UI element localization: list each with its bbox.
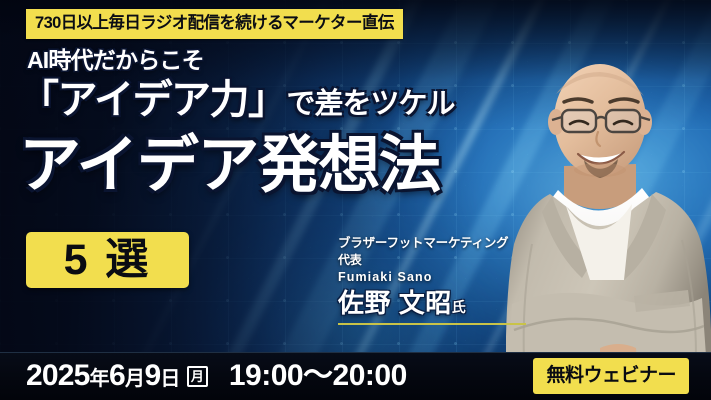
speaker-info: ブラザーフットマーケティング 代表 Fumiaki Sano 佐野 文昭氏: [338, 236, 533, 325]
date-year: 2025: [26, 361, 90, 391]
date-month: 6: [109, 361, 125, 391]
date-year-unit: 年: [90, 369, 110, 389]
date-day-unit: 日: [160, 369, 180, 389]
event-date: 2025年6月9日月: [26, 361, 208, 391]
headline-line-2-tail: で差をツケル: [287, 88, 455, 120]
speaker-name-text: 佐野 文昭: [338, 288, 452, 318]
headline-line-3: アイデア発想法: [19, 135, 439, 197]
event-time-range: 19:00～20:00: [229, 361, 407, 391]
date-day: 9: [144, 361, 160, 391]
free-webinar-badge: 無料ウェビナー: [533, 358, 689, 394]
headline-line-2: 「アイデア力」で差をツケル: [19, 80, 455, 120]
schedule-bar: 2025年6月9日月 19:00～20:00 無料ウェビナー: [0, 352, 711, 400]
banner-content: 730日以上毎日ラジオ配信を続けるマーケター直伝 AI時代だからこそ 「アイデア…: [0, 0, 711, 400]
speaker-name-honorific: 氏: [452, 299, 466, 315]
schedule-dateline: 2025年6月9日月 19:00～20:00: [26, 361, 407, 391]
speaker-name-romaji: Fumiaki Sano: [338, 270, 533, 286]
headline-line-2-main: 「アイデア力」: [19, 78, 287, 122]
count-badge: 5 選: [26, 232, 189, 288]
day-of-week-badge: 月: [187, 366, 208, 387]
speaker-company: ブラザーフットマーケティング: [338, 236, 533, 250]
webinar-promo-banner: 730日以上毎日ラジオ配信を続けるマーケター直伝 AI時代だからこそ 「アイデア…: [0, 0, 711, 400]
speaker-role: 代表: [338, 253, 533, 268]
kicker-badge: 730日以上毎日ラジオ配信を続けるマーケター直伝: [26, 9, 403, 39]
date-month-unit: 月: [125, 369, 145, 389]
speaker-name: 佐野 文昭氏: [338, 289, 533, 317]
headline-sub: AI時代だからこそ: [27, 49, 204, 72]
speaker-underline: [338, 323, 526, 325]
